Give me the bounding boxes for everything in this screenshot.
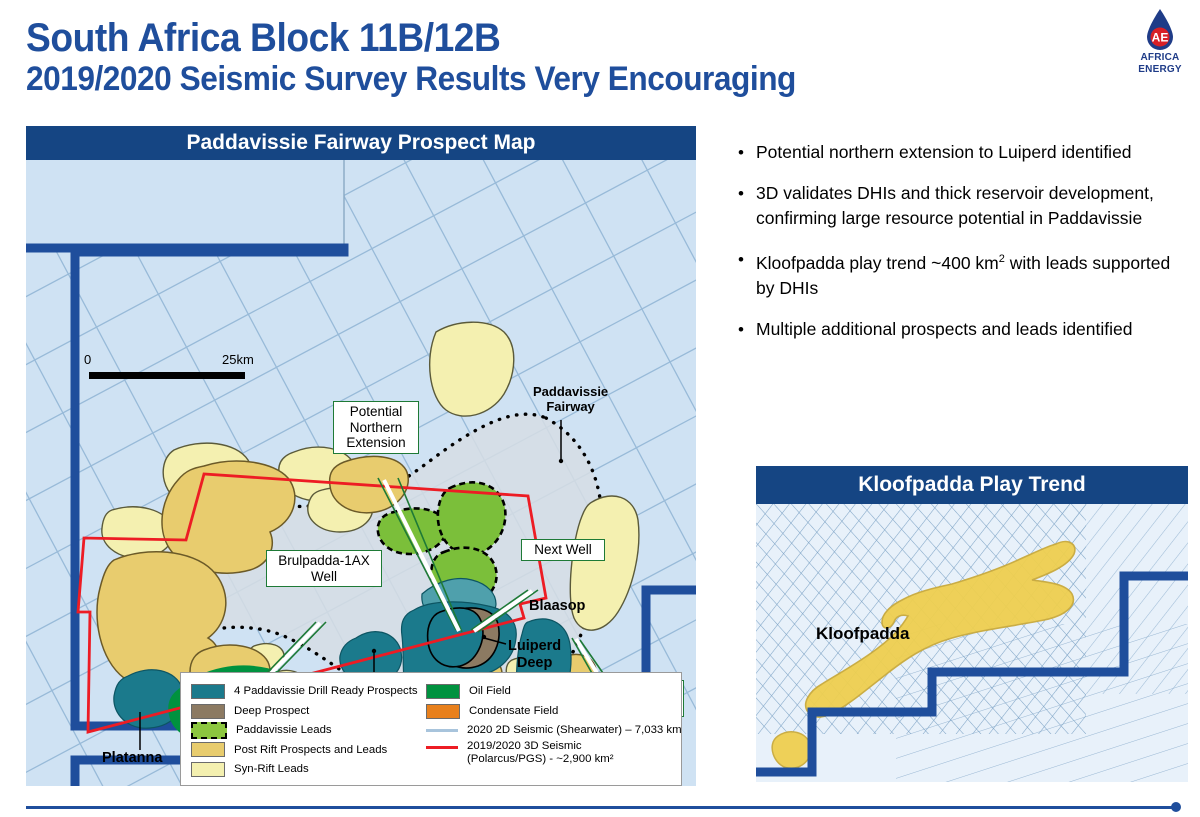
bullet-item: • 3D validates DHIs and thick reservoir …	[738, 181, 1178, 231]
legend-label: Paddavissie Leads	[236, 724, 332, 737]
map-legend: 4 Paddavissie Drill Ready ProspectsDeep …	[180, 672, 682, 786]
footer-rule	[26, 806, 1174, 809]
paddavissie-fairway-map-panel: Paddavissie Fairway Prospect Map	[26, 126, 696, 786]
legend-line-swatch	[426, 729, 458, 732]
africa-energy-logo: AE AFRICA ENERGY	[1132, 8, 1188, 84]
legend-color-swatch	[191, 704, 225, 719]
callout-potential-northern-extension[interactable]: PotentialNorthernExtension	[333, 401, 419, 454]
legend-color-swatch	[191, 684, 225, 699]
legend-color-swatch	[426, 704, 460, 719]
legend-row: 2020 2D Seismic (Shearwater) – 7,033 km	[426, 721, 682, 740]
legend-label: 2020 2D Seismic (Shearwater) – 7,033 km	[467, 724, 682, 737]
page-title-line1: South Africa Block 11B/12B	[26, 16, 500, 61]
legend-label: 4 Paddavissie Drill Ready Prospects	[234, 685, 418, 698]
svg-text:AE: AE	[1152, 31, 1169, 45]
legend-color-swatch	[191, 722, 227, 739]
bullet-marker: •	[738, 317, 756, 342]
page-title-line2: 2019/2020 Seismic Survey Results Very En…	[26, 60, 796, 99]
kloofpadda-panel-title: Kloofpadda Play Trend	[756, 466, 1188, 504]
bullet-marker: •	[738, 140, 756, 165]
callout-next-well[interactable]: Next Well	[521, 539, 605, 561]
footer-dot	[1171, 802, 1181, 812]
bullet-text-superscript: Kloofpadda play trend ~400 km2 with lead…	[756, 247, 1178, 301]
bullet-item: • Multiple additional prospects and lead…	[738, 317, 1178, 342]
bullet-list: • Potential northern extension to Luiper…	[738, 140, 1178, 358]
legend-column-left: 4 Paddavissie Drill Ready ProspectsDeep …	[191, 682, 418, 779]
legend-row: Post Rift Prospects and Leads	[191, 740, 418, 759]
legend-label: 2019/2020 3D Seismic(Polarcus/PGS) - ~2,…	[467, 740, 614, 765]
map-panel-title: Paddavissie Fairway Prospect Map	[26, 126, 696, 160]
legend-color-swatch	[191, 742, 225, 757]
legend-line-swatch	[426, 746, 458, 749]
scale-max-label: 25km	[222, 352, 254, 367]
kloofpadda-canvas[interactable]: Kloofpadda	[756, 504, 1188, 782]
callout-brulpadda-1ax-well[interactable]: Brulpadda-1AXWell	[266, 550, 382, 587]
legend-row: Oil Field	[426, 682, 682, 701]
legend-label: Syn-Rift Leads	[234, 763, 309, 776]
legend-column-right: Oil FieldCondensate Field2020 2D Seismic…	[426, 682, 682, 770]
logo-line1: AFRICA	[1132, 52, 1188, 64]
bullet-text: Multiple additional prospects and leads …	[756, 317, 1133, 342]
logo-wordmark: AFRICA ENERGY	[1132, 52, 1188, 75]
kloofpadda-area-label: Kloofpadda	[816, 624, 910, 644]
legend-color-swatch	[191, 762, 225, 777]
legend-color-swatch	[426, 684, 460, 699]
legend-row: Condensate Field	[426, 701, 682, 720]
legend-label: Deep Prospect	[234, 705, 309, 718]
bullet-text: 3D validates DHIs and thick reservoir de…	[756, 181, 1178, 231]
legend-label: Condensate Field	[469, 705, 558, 718]
logo-line2: ENERGY	[1132, 64, 1188, 76]
scale-min-label: 0	[84, 352, 91, 367]
legend-row: 2019/2020 3D Seismic(Polarcus/PGS) - ~2,…	[426, 740, 682, 770]
kloofpadda-play-trend-panel: Kloofpadda Play Trend	[756, 466, 1188, 782]
legend-label: Oil Field	[469, 685, 511, 698]
bullet-marker: •	[738, 181, 756, 231]
bullet-marker: •	[738, 247, 756, 301]
legend-row: Syn-Rift Leads	[191, 760, 418, 779]
page-header: South Africa Block 11B/12B 2019/2020 Sei…	[0, 0, 1200, 110]
bullet-text: Potential northern extension to Luiperd …	[756, 140, 1132, 165]
bullet-item: • Kloofpadda play trend ~400 km2 with le…	[738, 247, 1178, 301]
legend-row: Paddavissie Leads	[191, 721, 418, 740]
bullet-item: • Potential northern extension to Luiper…	[738, 140, 1178, 165]
legend-row: Deep Prospect	[191, 701, 418, 720]
legend-row: 4 Paddavissie Drill Ready Prospects	[191, 682, 418, 701]
legend-label: Post Rift Prospects and Leads	[234, 744, 387, 757]
bullet-text-pre: Kloofpadda play trend ~400 km	[756, 253, 999, 273]
droplet-icon: AE	[1144, 8, 1176, 52]
